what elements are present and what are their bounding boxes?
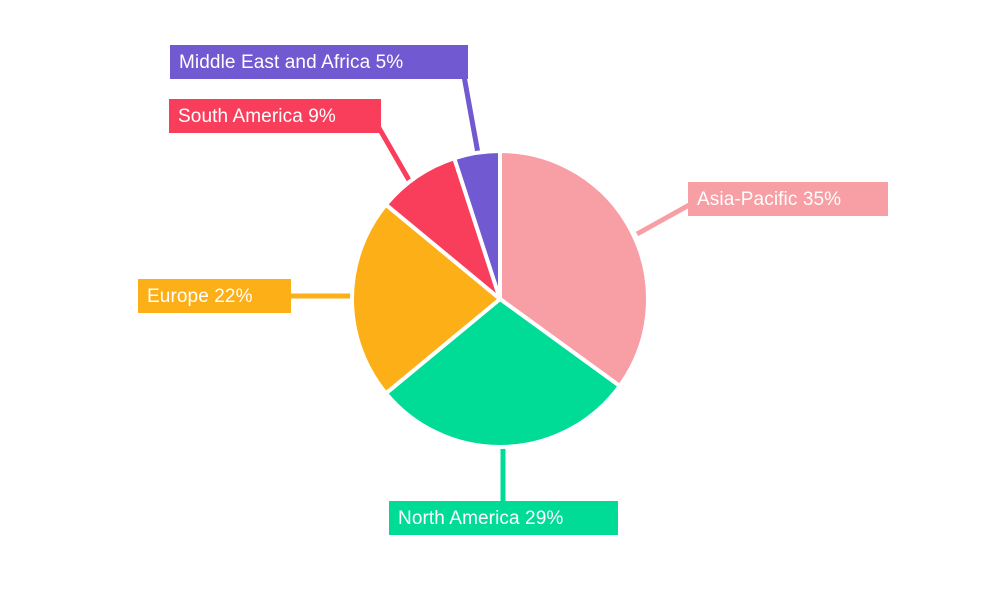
- pie-label-text: Middle East and Africa 5%: [179, 53, 403, 72]
- pie-label-south-america[interactable]: South America 9%: [169, 99, 381, 133]
- pie-label-middle-east-and-africa[interactable]: Middle East and Africa 5%: [170, 45, 468, 79]
- pie-chart: Middle East and Africa 5% South America …: [0, 0, 1000, 600]
- leader-line-middle-east-africa: [464, 76, 479, 159]
- pie-label-europe[interactable]: Europe 22%: [138, 279, 291, 313]
- pie-label-text: Europe 22%: [147, 287, 253, 306]
- pie-label-text: North America 29%: [398, 509, 563, 528]
- pie-label-text: Asia-Pacific 35%: [697, 190, 841, 209]
- pie-label-asia-pacific[interactable]: Asia-Pacific 35%: [688, 182, 888, 216]
- pie-label-north-america[interactable]: North America 29%: [389, 501, 618, 535]
- pie-slices: [352, 151, 648, 447]
- pie-label-text: South America 9%: [178, 107, 336, 126]
